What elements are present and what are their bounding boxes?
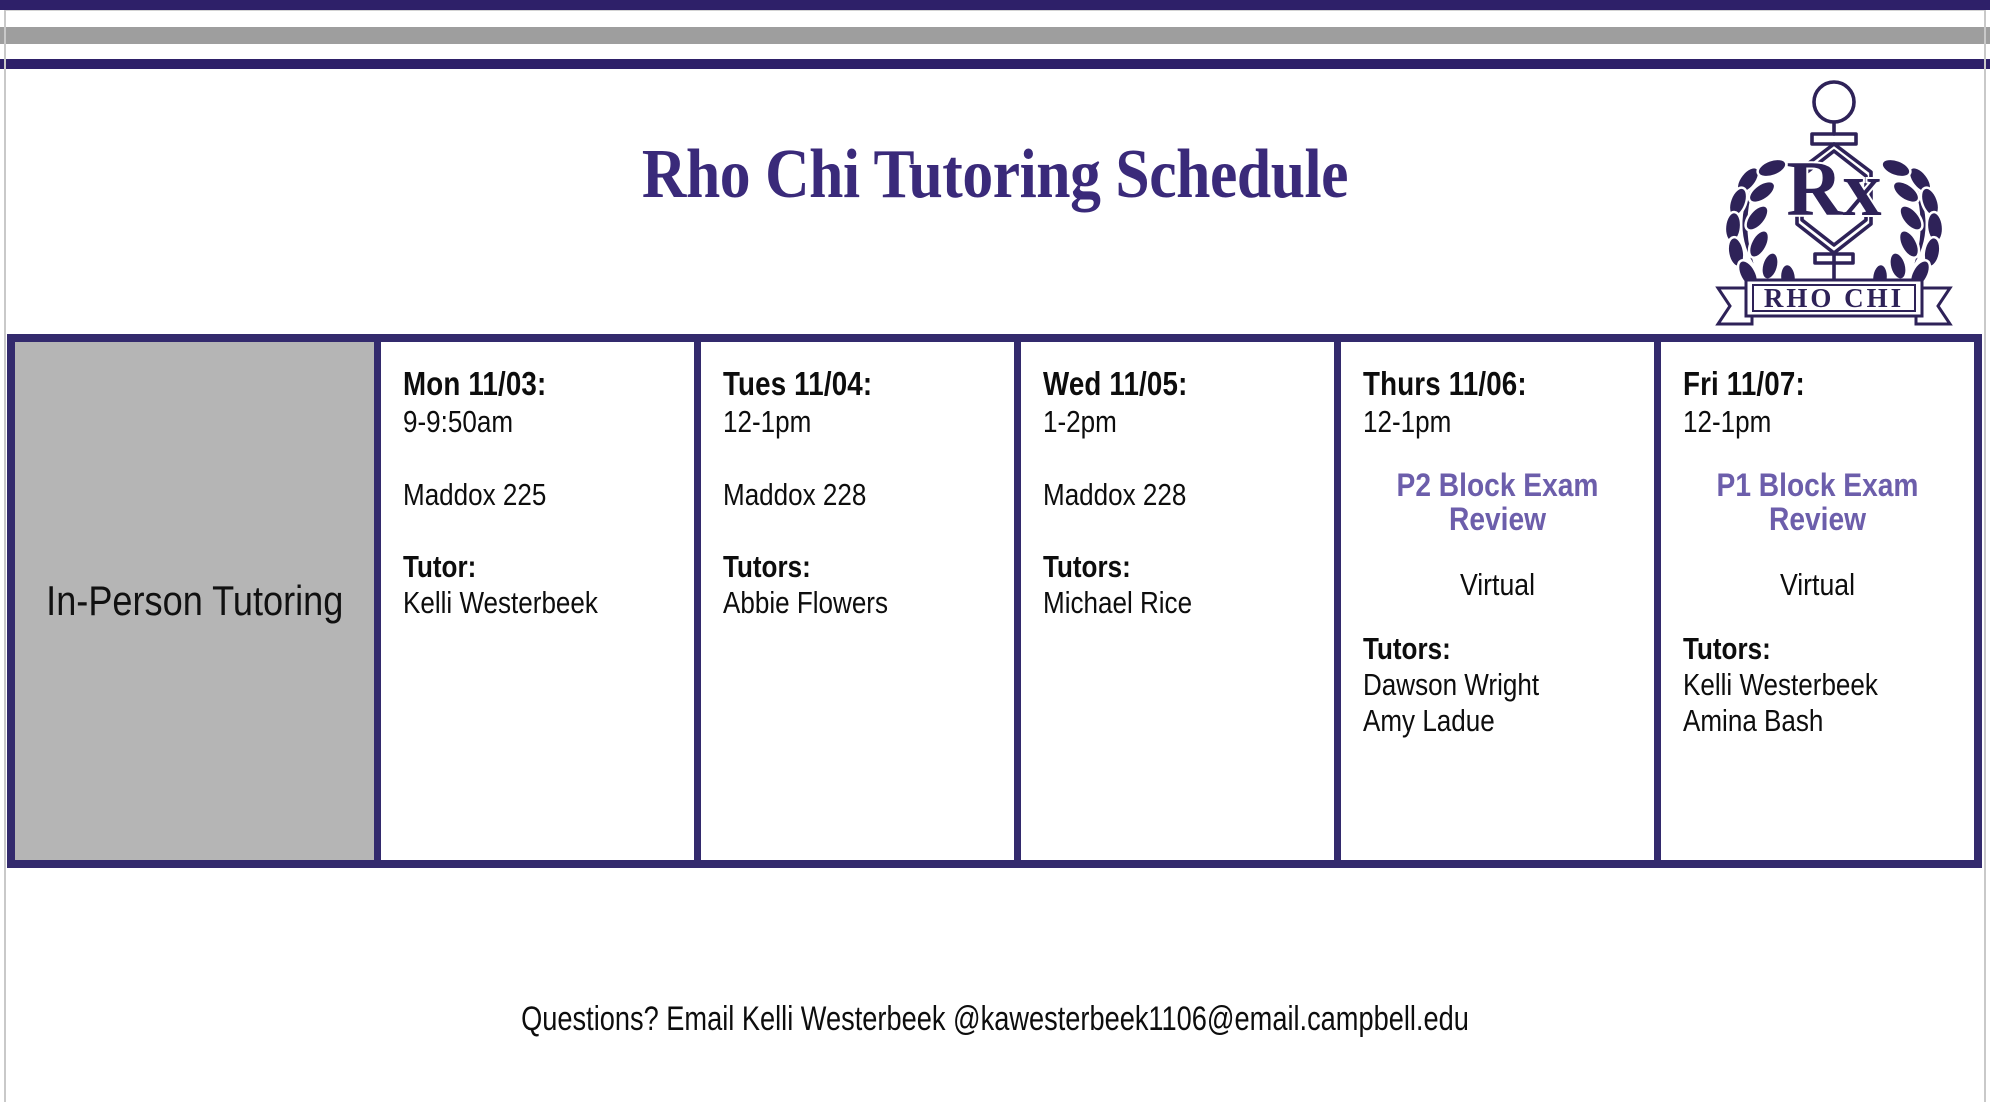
page-edge-left bbox=[4, 10, 6, 1102]
tutoring-schedule-table: In-Person Tutoring Mon 11/03: 9-9:50am M… bbox=[7, 334, 1982, 868]
schedule-column-wednesday[interactable]: Wed 11/05: 1-2pm Maddox 228 Tutors: Mich… bbox=[1021, 342, 1341, 860]
rho-chi-banner: RHO CHI bbox=[1718, 280, 1950, 324]
schedule-column-tuesday[interactable]: Tues 11/04: 12-1pm Maddox 228 Tutors: Ab… bbox=[701, 342, 1021, 860]
tutors-label: Tutors: bbox=[723, 549, 949, 585]
schedule-flyer: Rho Chi Tutoring Schedule Rx bbox=[0, 0, 1990, 1102]
tutors-label: Tutors: bbox=[1043, 549, 1269, 585]
row-label-text: In-Person Tutoring bbox=[46, 577, 343, 625]
top-accent-bar-purple-secondary bbox=[0, 59, 1990, 69]
day-heading: Thurs 11/06: bbox=[1363, 366, 1589, 403]
day-time: 12-1pm bbox=[723, 404, 949, 440]
schedule-column-monday[interactable]: Mon 11/03: 9-9:50am Maddox 225 Tutor: Ke… bbox=[381, 342, 701, 860]
day-location: Maddox 228 bbox=[723, 477, 949, 513]
day-time: 12-1pm bbox=[1363, 404, 1589, 440]
day-heading: Fri 11/07: bbox=[1683, 366, 1909, 403]
tutors-label: Tutors: bbox=[1683, 631, 1909, 667]
schedule-column-thursday[interactable]: Thurs 11/06: 12-1pm P2 Block Exam Review… bbox=[1341, 342, 1661, 860]
row-label-in-person-tutoring: In-Person Tutoring bbox=[15, 342, 381, 860]
day-heading: Wed 11/05: bbox=[1043, 366, 1269, 403]
top-accent-bar-purple bbox=[0, 0, 1990, 10]
tutor-name: Michael Rice bbox=[1043, 585, 1269, 621]
day-heading: Tues 11/04: bbox=[723, 366, 949, 403]
schedule-column-friday[interactable]: Fri 11/07: 12-1pm P1 Block Exam Review V… bbox=[1661, 342, 1974, 860]
virtual-label: Virtual bbox=[1702, 567, 1933, 603]
block-exam-review-title: P1 Block Exam Review bbox=[1699, 468, 1936, 537]
page-edge-top bbox=[4, 10, 1986, 11]
tutors-label: Tutor: bbox=[403, 549, 629, 585]
top-accent-bar-gray bbox=[0, 27, 1990, 44]
day-location: Maddox 228 bbox=[1043, 477, 1269, 513]
page-title: Rho Chi Tutoring Schedule bbox=[119, 135, 1870, 215]
footer-contact-text: Questions? Email Kelli Westerbeek @kawes… bbox=[199, 1000, 1791, 1039]
rx-monogram: Rx bbox=[1786, 145, 1881, 232]
tutor-name: Amina Bash bbox=[1683, 703, 1909, 739]
rho-chi-logo: Rx bbox=[1700, 72, 1968, 327]
day-time: 9-9:50am bbox=[403, 404, 629, 440]
day-time: 12-1pm bbox=[1683, 404, 1909, 440]
tutor-name: Abbie Flowers bbox=[723, 585, 949, 621]
tutor-name: Kelli Westerbeek bbox=[1683, 667, 1909, 703]
day-heading: Mon 11/03: bbox=[403, 366, 629, 403]
day-time: 1-2pm bbox=[1043, 404, 1269, 440]
day-location: Maddox 225 bbox=[403, 477, 629, 513]
tutor-name: Kelli Westerbeek bbox=[403, 585, 629, 621]
virtual-label: Virtual bbox=[1382, 567, 1613, 603]
tutor-name: Amy Ladue bbox=[1363, 703, 1589, 739]
svg-text:RHO CHI: RHO CHI bbox=[1764, 283, 1904, 313]
page-edge-right bbox=[1984, 10, 1986, 1102]
block-exam-review-title: P2 Block Exam Review bbox=[1379, 468, 1616, 537]
tutor-name: Dawson Wright bbox=[1363, 667, 1589, 703]
tutors-label: Tutors: bbox=[1363, 631, 1589, 667]
